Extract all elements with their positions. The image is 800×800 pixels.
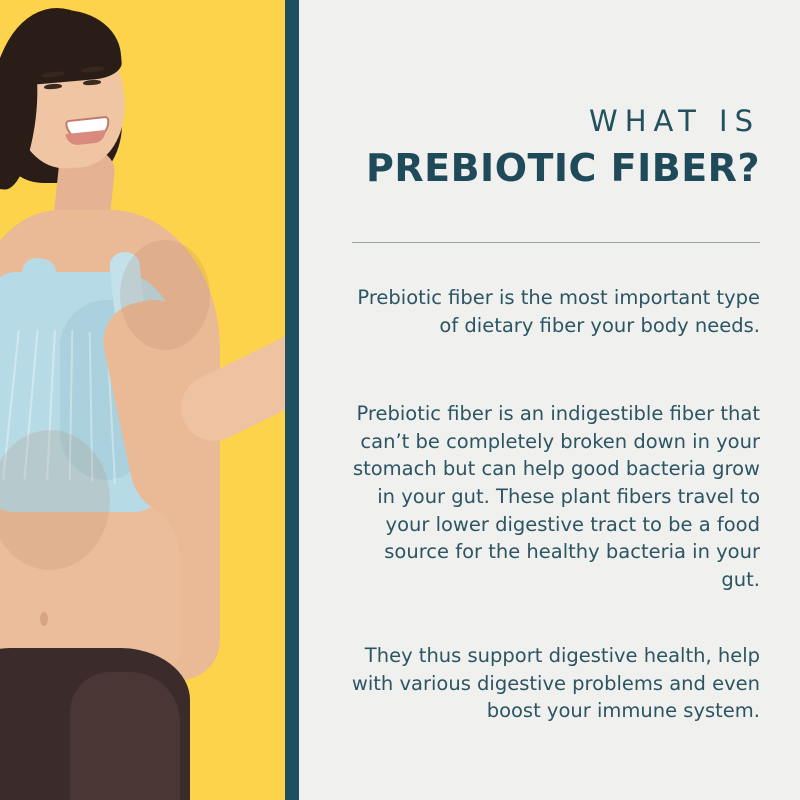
navel-shape (40, 612, 48, 626)
title-divider-rule (352, 242, 760, 243)
body-paragraph-1: Prebiotic fiber is the most important ty… (340, 284, 760, 339)
text-content-area: WHAT IS PREBIOTIC FIBER? Prebiotic fiber… (320, 0, 780, 800)
body-paragraph-2: Prebiotic fiber is an indigestible fiber… (340, 400, 760, 594)
leggings-shading (70, 672, 180, 800)
shoulder-shading (120, 240, 210, 350)
eyebrow-title: WHAT IS (589, 104, 760, 138)
page-title: PREBIOTIC FIBER? (366, 146, 760, 190)
body-paragraph-3: They thus support digestive health, help… (340, 642, 760, 725)
vertical-divider-bar (285, 0, 299, 800)
model-photo (0, 0, 300, 800)
infographic-poster: WHAT IS PREBIOTIC FIBER? Prebiotic fiber… (0, 0, 800, 800)
